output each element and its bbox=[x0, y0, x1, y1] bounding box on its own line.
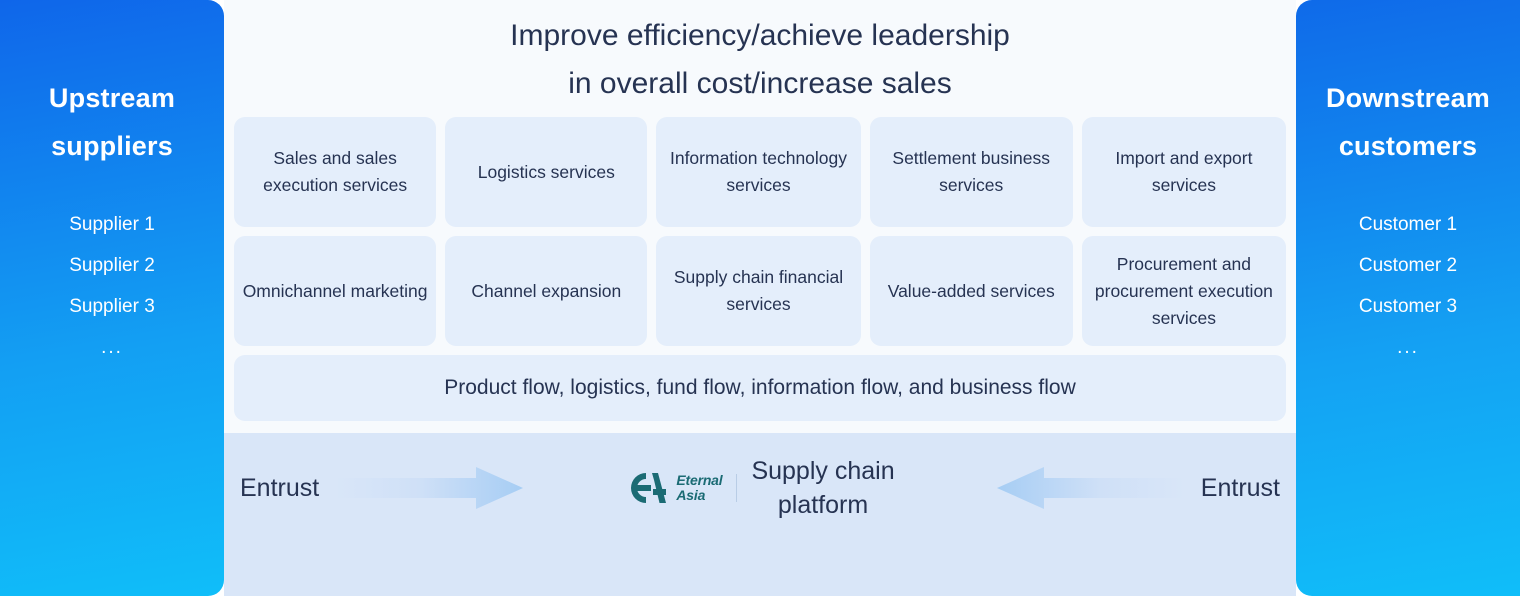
entrust-outbound-group: Entrust bbox=[997, 467, 1280, 509]
list-item: Customer 2 bbox=[1296, 245, 1520, 286]
list-item: Customer 3 bbox=[1296, 286, 1520, 327]
service-card[interactable]: Import and export services bbox=[1082, 117, 1286, 227]
service-row-1: Sales and sales execution services Logis… bbox=[234, 117, 1286, 227]
brand-divider bbox=[736, 474, 737, 502]
service-row-2: Omnichannel marketing Channel expansion … bbox=[234, 236, 1286, 346]
service-card[interactable]: Information technology services bbox=[656, 117, 860, 227]
list-item: Supplier 1 bbox=[0, 204, 224, 245]
service-card[interactable]: Sales and sales execution services bbox=[234, 117, 436, 227]
customer-list-ellipsis: ... bbox=[1296, 327, 1520, 368]
service-card[interactable]: Channel expansion bbox=[445, 236, 647, 346]
customer-list: Customer 1 Customer 2 Customer 3 ... bbox=[1296, 204, 1520, 368]
service-card[interactable]: Logistics services bbox=[445, 117, 647, 227]
platform-band-content: Entrust bbox=[224, 433, 1296, 543]
arrow-right-icon bbox=[335, 467, 523, 509]
list-item: Supplier 3 bbox=[0, 286, 224, 327]
downstream-title-line1: Downstream bbox=[1296, 74, 1520, 122]
service-card[interactable]: Settlement business services bbox=[870, 117, 1073, 227]
supplier-list: Supplier 1 Supplier 2 Supplier 3 ... bbox=[0, 204, 224, 368]
entrust-left-label: Entrust bbox=[240, 474, 319, 503]
brand-line-1: Eternal bbox=[676, 473, 722, 488]
platform-line-1: Supply chain bbox=[751, 454, 894, 488]
center-panel: Improve efficiency/achieve leadership in… bbox=[224, 0, 1296, 596]
page-title-line1: Improve efficiency/achieve leadership bbox=[224, 12, 1296, 60]
upstream-title-line1: Upstream bbox=[0, 74, 224, 122]
flow-summary-bar: Product flow, logistics, fund flow, info… bbox=[234, 355, 1286, 421]
supplier-list-ellipsis: ... bbox=[0, 327, 224, 368]
page-title-line2: in overall cost/increase sales bbox=[224, 60, 1296, 108]
platform-line-2: platform bbox=[751, 488, 894, 522]
platform-brand: Eternal Asia Supply chain platform bbox=[625, 454, 894, 522]
page-title: Improve efficiency/achieve leadership in… bbox=[224, 12, 1296, 108]
service-card[interactable]: Value-added services bbox=[870, 236, 1073, 346]
entrust-right-label: Entrust bbox=[1201, 474, 1280, 503]
supply-chain-platform-label: Supply chain platform bbox=[751, 454, 894, 522]
infographic-canvas: Upstream suppliers Supplier 1 Supplier 2… bbox=[0, 0, 1520, 596]
upstream-title-line2: suppliers bbox=[0, 122, 224, 170]
list-item: Customer 1 bbox=[1296, 204, 1520, 245]
downstream-panel-title: Downstream customers bbox=[1296, 74, 1520, 170]
eternal-asia-logo: Eternal Asia bbox=[625, 470, 722, 506]
upstream-suppliers-panel: Upstream suppliers Supplier 1 Supplier 2… bbox=[0, 0, 224, 596]
arrow-left-icon bbox=[997, 467, 1185, 509]
list-item: Supplier 2 bbox=[0, 245, 224, 286]
service-card[interactable]: Supply chain financial services bbox=[656, 236, 860, 346]
brand-line-2: Asia bbox=[676, 488, 722, 503]
downstream-title-line2: customers bbox=[1296, 122, 1520, 170]
upstream-panel-title: Upstream suppliers bbox=[0, 74, 224, 170]
service-card-grid: Sales and sales execution services Logis… bbox=[234, 117, 1286, 421]
eternal-asia-logo-icon bbox=[625, 470, 669, 506]
service-card[interactable]: Procurement and procurement execution se… bbox=[1082, 236, 1286, 346]
eternal-asia-wordmark: Eternal Asia bbox=[676, 473, 722, 503]
entrust-inbound-group: Entrust bbox=[240, 467, 523, 509]
service-card[interactable]: Omnichannel marketing bbox=[234, 236, 436, 346]
downstream-customers-panel: Downstream customers Customer 1 Customer… bbox=[1296, 0, 1520, 596]
